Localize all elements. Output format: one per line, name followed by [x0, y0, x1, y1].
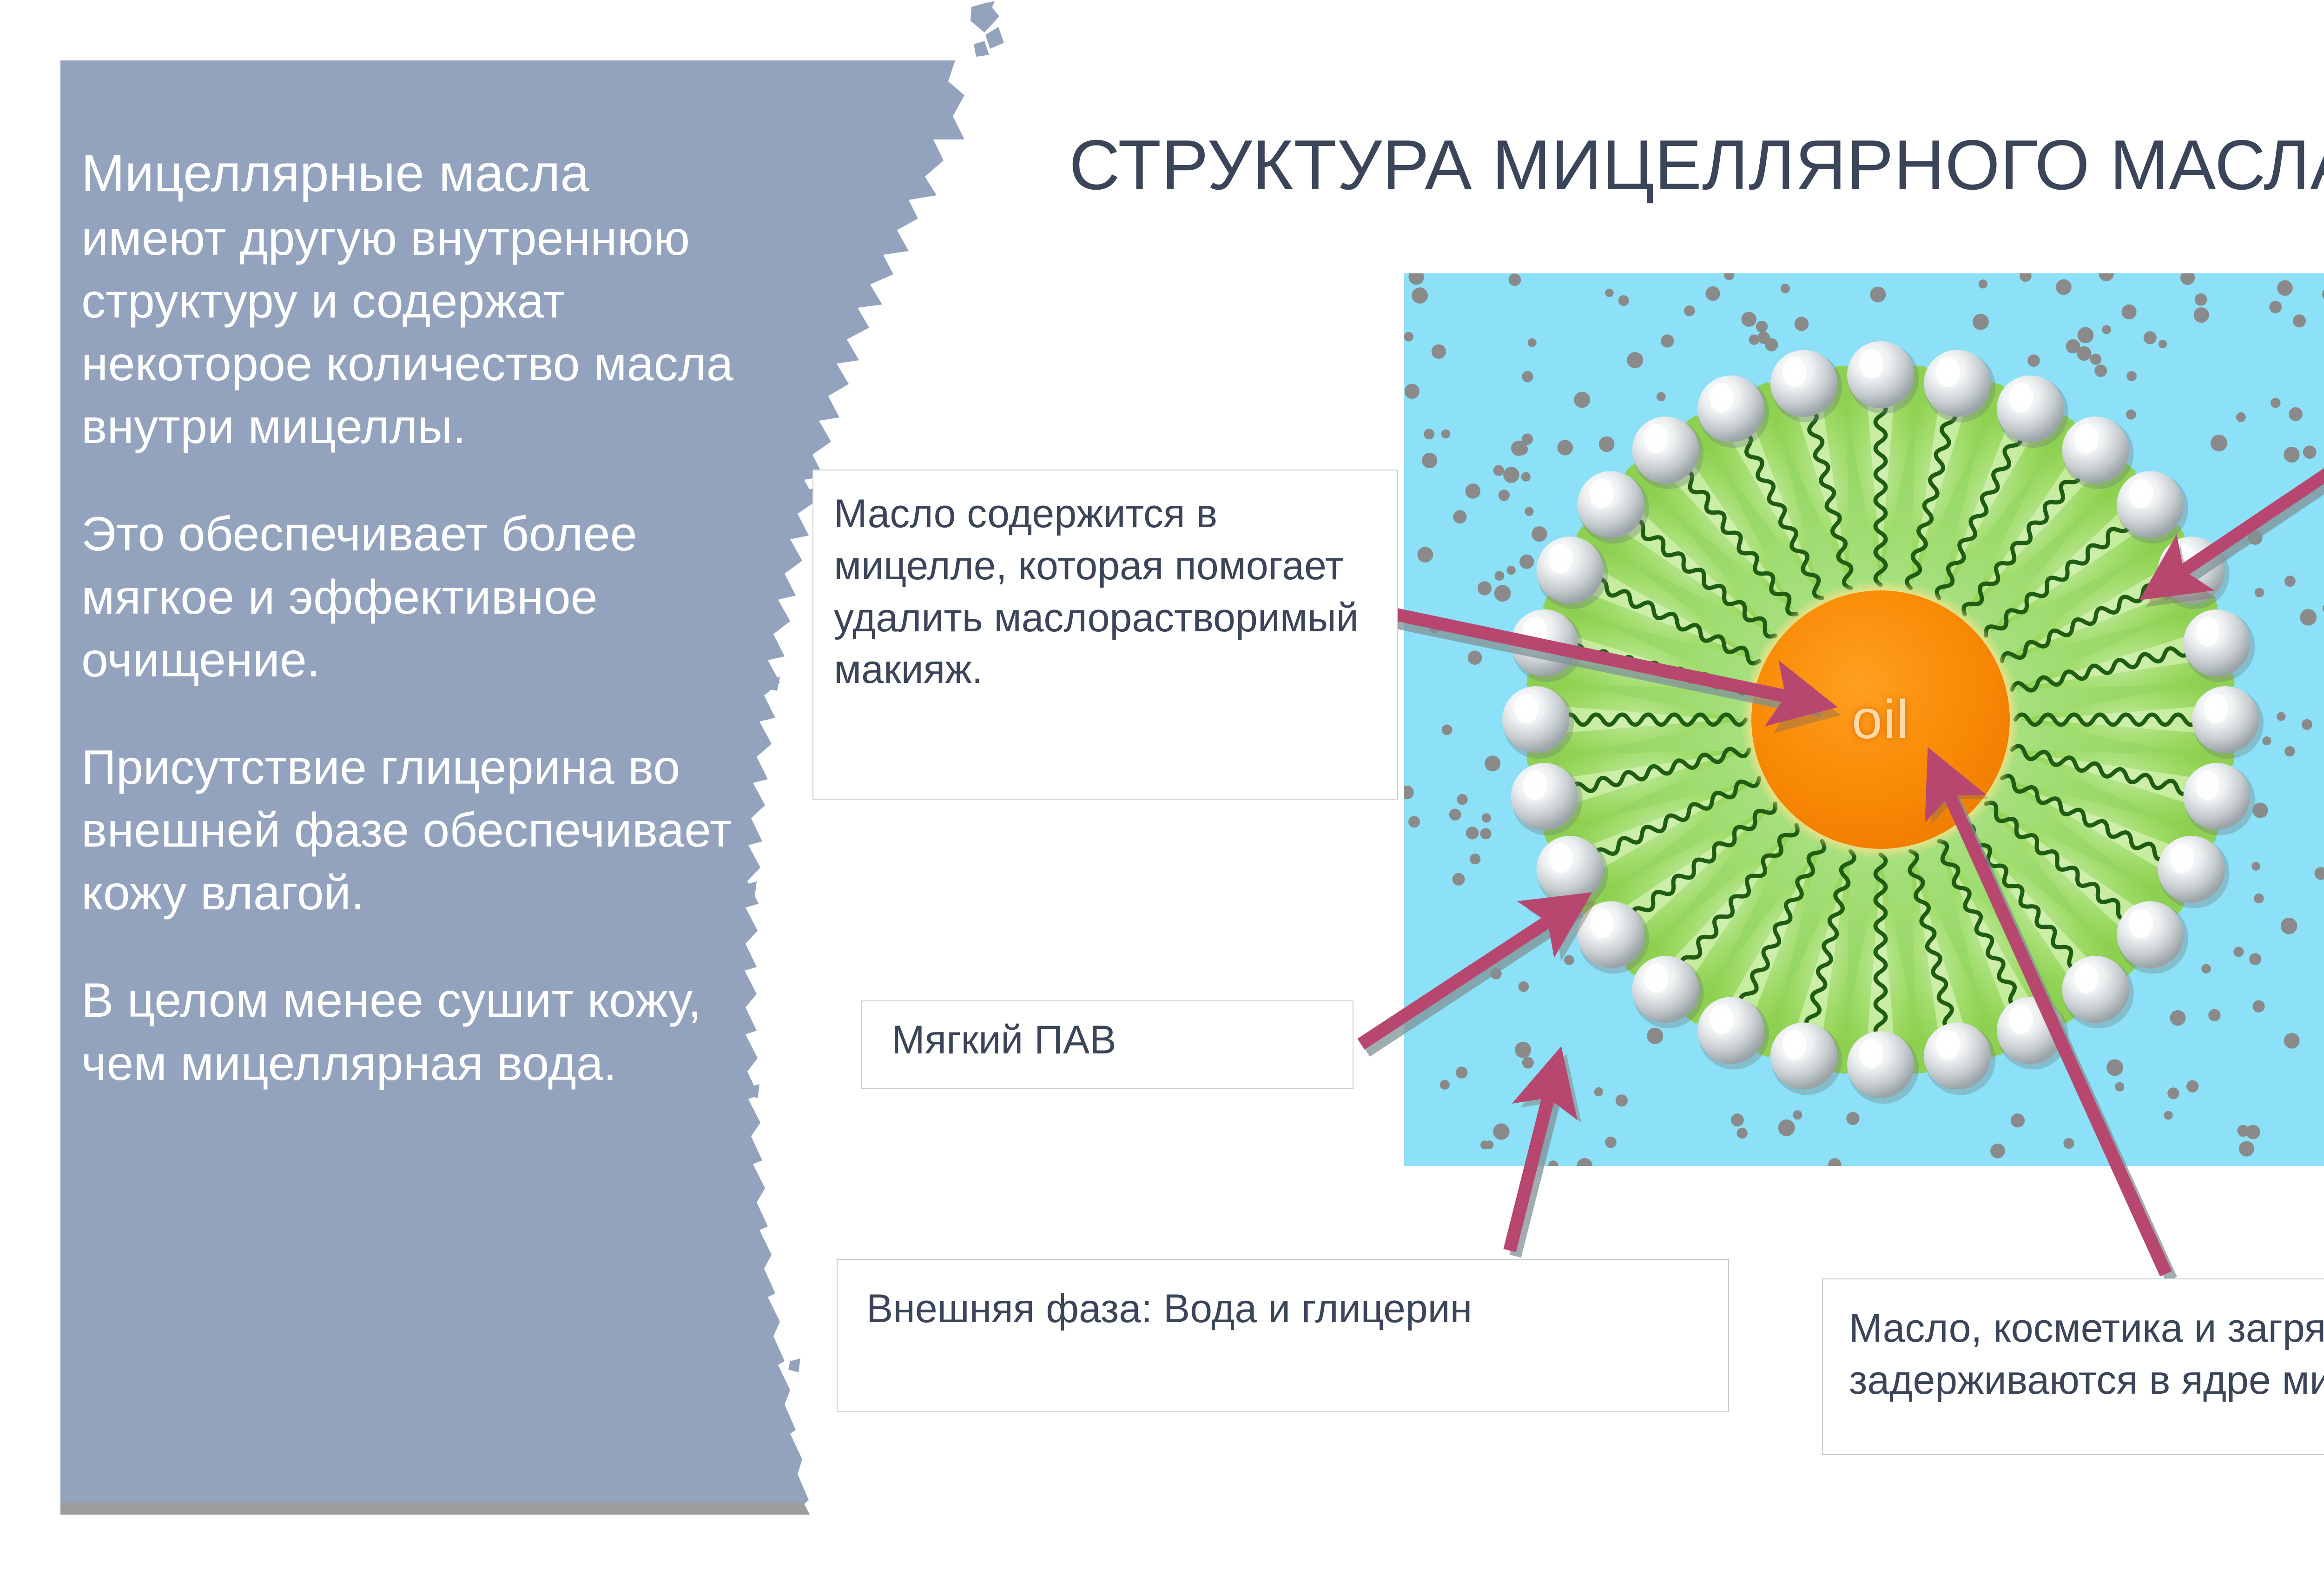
impurity-dot [1404, 332, 1413, 342]
impurity-dot [1485, 755, 1500, 771]
impurity-dot [1973, 314, 1989, 330]
impurity-dot [2236, 412, 2246, 422]
sidebar-paragraph-1: Мицеллярные масла имеют другую внутренню… [81, 139, 741, 458]
impurity-dot [1548, 1160, 1558, 1166]
impurity-dot [1509, 273, 1521, 286]
impurity-dot [1627, 352, 1643, 368]
page-title: СТРУКТУРА МИЦЕЛЛЯРНОГО МАСЛА [1069, 125, 2324, 206]
impurity-dot [1422, 453, 1437, 468]
impurity-dot [2284, 1033, 2300, 1049]
impurity-dot [2269, 301, 2282, 313]
impurity-dot [1478, 581, 1492, 595]
impurity-dot [1521, 472, 1531, 481]
impurity-dot [1564, 955, 1574, 966]
sidebar-paragraph-3: Присутствие глицерина во внешней фазе об… [81, 736, 741, 925]
impurity-dot [1404, 786, 1414, 800]
micelle-diagram: oil [1404, 273, 2324, 1166]
sidebar-lead-phrase: Мицеллярные масла [81, 144, 589, 202]
impurity-dot [2252, 1000, 2265, 1013]
impurity-dot [1574, 392, 1590, 408]
impurity-dot [2201, 964, 2211, 973]
callout-oil-in-micelle-text: Масло содержится в мицелле, которая помо… [834, 488, 1379, 696]
impurity-dot [1522, 1057, 1534, 1068]
impurity-dot [1493, 465, 1504, 476]
sidebar-paragraph-4: В целом менее сушит кожу, чем мицеллярна… [81, 969, 741, 1095]
impurity-dot [1736, 1128, 1747, 1139]
impurity-dot [2262, 736, 2271, 745]
impurity-dot [2303, 445, 2317, 459]
impurity-dot [2293, 314, 2306, 327]
impurity-dot [1495, 571, 1505, 581]
impurity-dot [1778, 1119, 1795, 1136]
impurity-dot [2159, 340, 2167, 348]
impurity-dot [1528, 338, 1537, 347]
impurity-dot [2195, 293, 2207, 306]
impurity-dot [2020, 273, 2032, 282]
impurity-dot [2094, 364, 2107, 377]
impurity-dot [1657, 392, 1666, 402]
impurity-dot [1979, 279, 1987, 288]
impurity-dot [1499, 490, 1510, 501]
impurity-dot [1577, 1158, 1593, 1166]
impurity-dot [1605, 289, 1613, 297]
callout-core-traps-text: Масло, косметика и загрязнения задержива… [1849, 1303, 2324, 1407]
impurity-dot [2164, 1111, 2173, 1120]
impurity-dot [2126, 371, 2137, 381]
impurity-dot [1408, 273, 1424, 285]
impurity-dot [1432, 344, 1446, 359]
impurity-dot [1616, 1094, 1628, 1106]
impurity-dot [1618, 295, 1629, 306]
impurity-dot [1515, 1042, 1531, 1058]
impurity-dot [1795, 317, 1809, 331]
impurity-dot [1599, 437, 1615, 452]
impurity-dot [1452, 873, 1465, 886]
impurity-dot [2121, 305, 2136, 319]
impurity-dot [2167, 1087, 2179, 1099]
impurity-dot [1482, 813, 1491, 822]
impurity-dot [2254, 894, 2264, 903]
impurity-dot [1449, 808, 1461, 821]
impurity-dot [1661, 334, 1674, 347]
impurity-dot [2277, 712, 2285, 721]
impurity-dot [1490, 968, 1501, 979]
impurity-dot [2249, 953, 2261, 965]
callout-oil-in-micelle[interactable]: Масло содержится в мицелле, которая помо… [812, 470, 1398, 800]
impurity-dot [1440, 1080, 1450, 1090]
impurity-dot [1605, 1137, 1617, 1148]
impurity-dot [2246, 1125, 2260, 1139]
impurity-dot [1647, 1028, 1663, 1044]
impurity-dot [1990, 1144, 2005, 1159]
impurity-dot [2284, 576, 2296, 587]
impurity-dot [1870, 287, 1886, 303]
impurity-dot [1522, 371, 1533, 382]
impurity-dot [2289, 407, 2303, 421]
callout-mild-surfactant-text: Мягкий ПАВ [891, 1020, 1353, 1060]
impurity-dot [2180, 273, 2195, 285]
impurity-dot [1468, 651, 1482, 665]
impurity-dot [2186, 1080, 2199, 1092]
impurity-dot [1470, 854, 1480, 864]
impurity-dot [1408, 816, 1420, 828]
impurity-dot [1532, 526, 1547, 542]
impurity-dot [1457, 794, 1467, 805]
impurity-dot [2277, 280, 2292, 296]
impurity-dot [1828, 1158, 1841, 1166]
impurity-dot [2281, 918, 2298, 934]
impurity-dot [2251, 862, 2260, 871]
impurity-dot [1516, 443, 1528, 455]
impurity-dot [2255, 588, 2264, 597]
impurity-dot [2248, 530, 2262, 545]
impurity-dot [2322, 288, 2324, 301]
impurity-dot [1525, 507, 1533, 516]
impurity-dot [1793, 1110, 1802, 1119]
impurity-dot [2233, 947, 2244, 957]
impurity-dot [1424, 429, 1434, 439]
impurity-dot [2027, 354, 2040, 367]
impurity-dot [1493, 1123, 1509, 1139]
impurity-dot [1485, 1140, 1494, 1149]
impurity-dot [1731, 1113, 1744, 1126]
sidebar-paragraph-2: Это обеспечивает более мягкое и эффектив… [81, 503, 741, 692]
impurity-dot [1519, 555, 1534, 569]
impurity-dot [1503, 467, 1519, 483]
impurity-dot [2170, 1010, 2186, 1026]
impurity-dot [1429, 622, 1440, 633]
impurity-dot [2302, 719, 2312, 730]
impurity-dot [2090, 354, 2101, 365]
impurity-dot [1456, 1066, 1468, 1079]
impurity-dot [2078, 327, 2094, 344]
impurity-dot [1542, 1096, 1555, 1109]
impurity-dot [2284, 746, 2295, 756]
callout-outer-phase[interactable]: Внешняя фаза: Вода и глицерин [837, 1259, 1729, 1412]
impurity-dot [2252, 803, 2268, 818]
impurity-dot [1507, 566, 1516, 575]
impurity-dot [1442, 724, 1452, 735]
impurity-dot [2126, 410, 2136, 420]
impurity-dot [2102, 325, 2111, 334]
impurity-dot [2208, 1009, 2220, 1021]
impurity-dot [1466, 827, 1479, 839]
impurity-dots [1404, 273, 2324, 1166]
impurity-dot [1441, 430, 1451, 439]
callout-core-traps[interactable]: Масло, косметика и загрязнения задержива… [1822, 1278, 2324, 1455]
impurity-dot [1494, 585, 1511, 602]
callout-mild-surfactant[interactable]: Мягкий ПАВ [861, 1000, 1353, 1089]
impurity-dot [2211, 435, 2227, 451]
impurity-dot [2066, 339, 2080, 354]
impurity-dot [1684, 305, 1695, 316]
sidebar-lead-rest: имеют другую внутреннюю структуру и соде… [81, 212, 733, 454]
impurity-dot [1765, 338, 1778, 351]
impurity-dot [2314, 867, 2324, 880]
impurity-dot [1519, 981, 1529, 992]
impurity-dot [2115, 1082, 2124, 1092]
impurity-dot [2194, 307, 2209, 323]
impurity-dot [2056, 279, 2072, 295]
impurity-dot [2271, 398, 2281, 408]
impurity-dot [1705, 286, 1720, 301]
callout-outer-phase-text: Внешняя фаза: Вода и глицерин [866, 1289, 1728, 1329]
impurity-dot [1405, 384, 1419, 399]
impurity-dot [1742, 312, 1756, 327]
impurity-dot [1749, 334, 1760, 345]
sidebar-body-text: Мицеллярные масла имеют другую внутренню… [81, 139, 741, 1095]
impurity-dot [1756, 321, 1768, 332]
impurity-dot [2284, 447, 2300, 463]
impurity-dot [2106, 1059, 2123, 1076]
impurity-dot [1522, 434, 1533, 445]
impurity-dot [2300, 609, 2317, 626]
impurity-dot [2239, 1141, 2254, 1157]
impurity-dot [2011, 1113, 2025, 1127]
impurity-dot [1846, 1112, 1859, 1125]
impurity-dot [1412, 287, 1428, 304]
impurity-dot [2063, 1138, 2074, 1149]
impurity-dot [1453, 510, 1466, 523]
impurity-dot [1417, 547, 1433, 563]
impurity-dot [1558, 440, 1573, 455]
impurity-dot [1480, 828, 1491, 839]
impurity-dot [1466, 483, 1481, 499]
impurity-dot [1781, 284, 1790, 293]
impurity-dot [1594, 1087, 1603, 1096]
impurity-dot [2144, 331, 2157, 344]
impurity-dot [1724, 273, 1734, 280]
